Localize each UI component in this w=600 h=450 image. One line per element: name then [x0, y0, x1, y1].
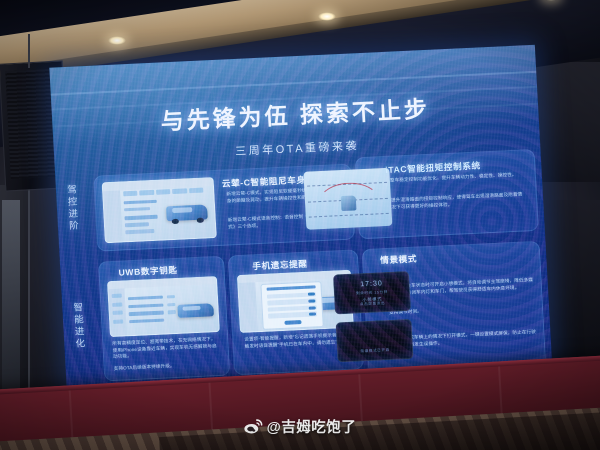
presentation-slide: 与先锋为伍 探索不止步 三周年OTA重磅来袭 驾控进阶 智能进化 [49, 45, 552, 397]
downlight-icon [108, 36, 126, 45]
torque-vector-diagram [303, 168, 392, 230]
watermark: @吉姆吃饱了 [0, 416, 600, 437]
app-screenshot-car [102, 177, 217, 243]
speaker-hanging-rod [28, 34, 30, 68]
smoke-screen-foot: 禁烟模式已开启 [338, 347, 412, 355]
downlight-icon [318, 12, 336, 21]
weibo-icon [244, 419, 263, 434]
conference-photo: 与先锋为伍 探索不止步 三周年OTA重磅来袭 驾控进阶 智能进化 [0, 0, 600, 450]
incar-screen-smoke: 禁烟模式已开启 [336, 319, 414, 363]
rest-screen-time: 17:30 [334, 279, 408, 289]
watermark-handle: @吉姆吃饱了 [267, 416, 357, 437]
incar-screen-rest: 17:30 剩余时间 15分钟 小憩模式 点击屏幕退出 [333, 271, 411, 315]
app-screenshot-key [107, 276, 220, 337]
side-label-drive: 驾控进阶 [64, 184, 84, 233]
side-label-smart: 智能进化 [70, 302, 90, 351]
scene-modes-heading: 情景模式 [380, 253, 417, 267]
left-door-glass [2, 200, 20, 390]
led-screen: 与先锋为伍 探索不止步 三周年OTA重磅来袭 驾控进阶 智能进化 [49, 45, 552, 397]
